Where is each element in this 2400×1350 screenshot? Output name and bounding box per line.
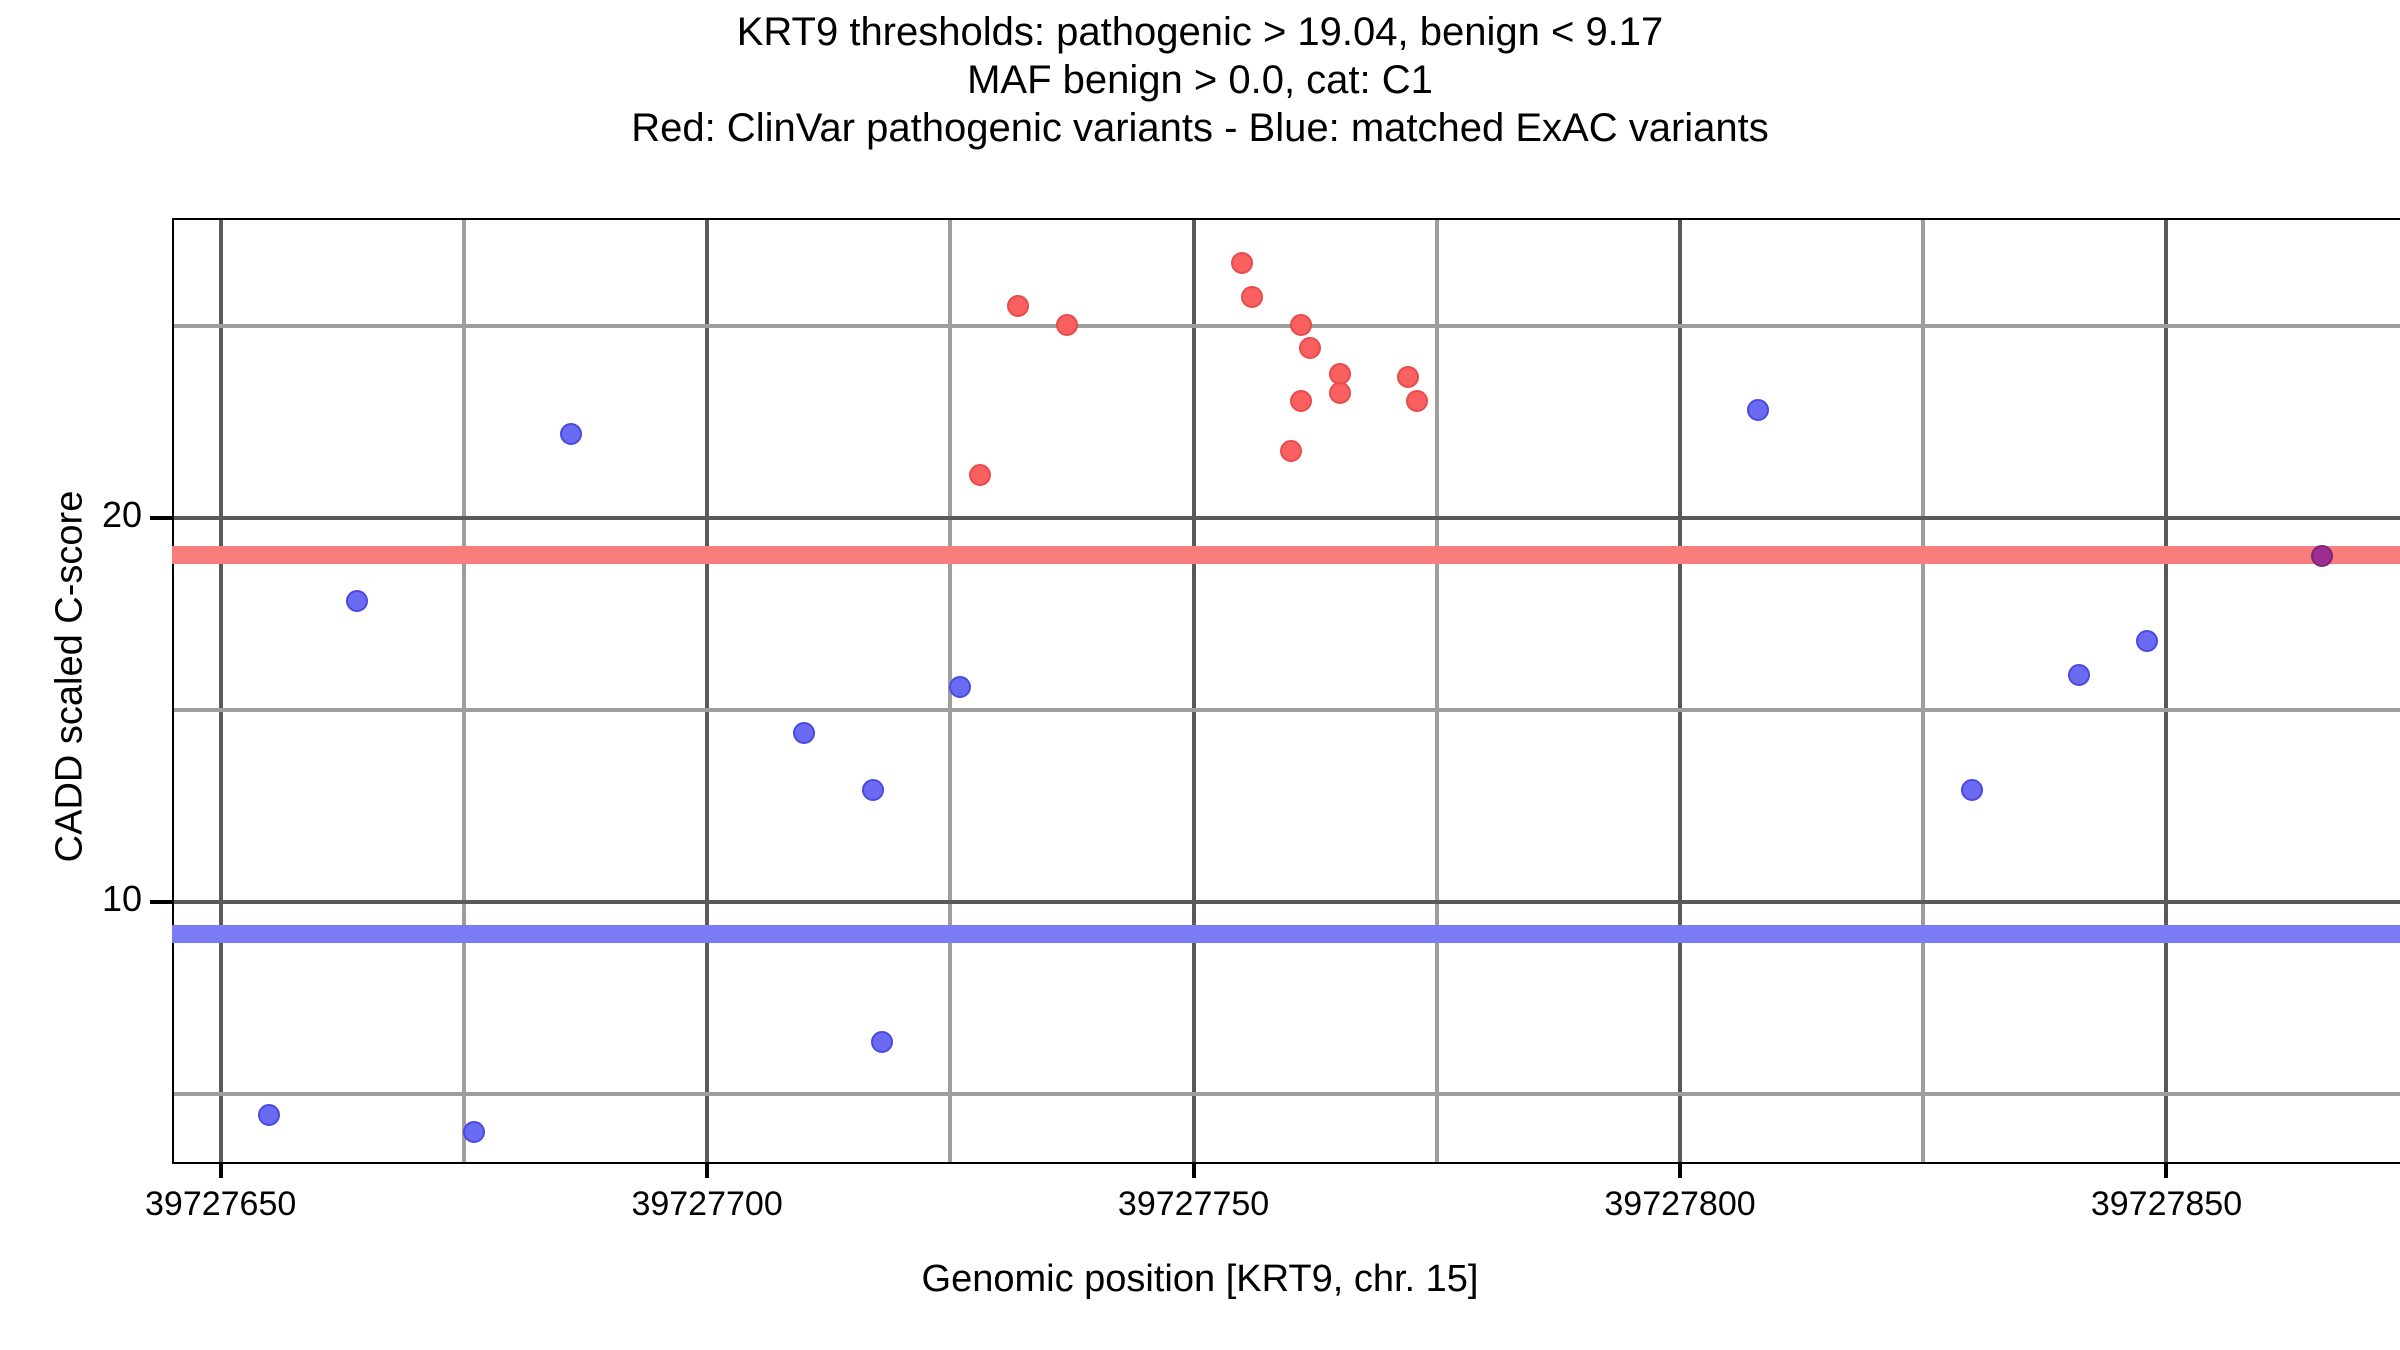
data-point-benign[interactable]	[2068, 664, 2090, 686]
data-point-benign[interactable]	[862, 779, 884, 801]
x-axis-tick-label: 39727850	[2006, 1185, 2326, 1224]
data-point-benign[interactable]	[1747, 399, 1769, 421]
data-point-benign[interactable]	[1961, 779, 1983, 801]
x-axis-label: Genomic position [KRT9, chr. 15]	[0, 1258, 2400, 1301]
data-point-benign[interactable]	[346, 590, 368, 612]
x-axis-tick-label: 39727800	[1520, 1185, 1840, 1224]
data-point-benign[interactable]	[560, 423, 582, 445]
data-point-pathogenic[interactable]	[1290, 390, 1312, 412]
data-point-benign[interactable]	[463, 1121, 485, 1143]
data-point-pathogenic[interactable]	[1290, 314, 1312, 336]
data-point-benign[interactable]	[258, 1104, 280, 1126]
axis-top-spine	[172, 218, 2400, 220]
benign-threshold-band	[172, 925, 2400, 943]
data-point-pathogenic[interactable]	[1280, 440, 1302, 462]
data-point-overlap[interactable]	[2311, 545, 2333, 567]
data-point-benign[interactable]	[2136, 630, 2158, 652]
pathogenic-threshold-band	[172, 546, 2400, 564]
y-axis-tick	[150, 516, 172, 520]
data-point-pathogenic[interactable]	[1329, 382, 1351, 404]
x-axis-tick-label: 39727750	[1034, 1185, 1354, 1224]
data-point-pathogenic[interactable]	[1231, 252, 1253, 274]
data-point-pathogenic[interactable]	[1241, 286, 1263, 308]
x-axis-tick	[219, 1164, 223, 1178]
x-axis-tick	[1678, 1164, 1682, 1178]
gridline-horizontal	[172, 516, 2400, 520]
data-point-benign[interactable]	[949, 676, 971, 698]
x-axis-tick	[705, 1164, 709, 1178]
chart-title: KRT9 thresholds: pathogenic > 19.04, ben…	[0, 8, 2400, 152]
gridline-vertical	[705, 218, 709, 1163]
gridline-vertical	[1678, 218, 1682, 1163]
data-point-benign[interactable]	[871, 1031, 893, 1053]
x-axis-tick	[2164, 1164, 2168, 1178]
data-point-pathogenic[interactable]	[969, 464, 991, 486]
title-line-2: MAF benign > 0.0, cat: C1	[0, 56, 2400, 104]
gridline-horizontal	[172, 900, 2400, 904]
data-point-pathogenic[interactable]	[1406, 390, 1428, 412]
gridline-vertical	[219, 218, 223, 1163]
gridline-vertical	[1435, 218, 1439, 1163]
gridline-horizontal	[172, 324, 2400, 328]
y-axis-label: CADD scaled C-score	[49, 177, 92, 1177]
axis-bottom-spine	[172, 1162, 2400, 1164]
data-point-benign[interactable]	[793, 722, 815, 744]
x-axis-tick-label: 39727650	[61, 1185, 381, 1224]
gridline-vertical	[1192, 218, 1196, 1163]
data-point-pathogenic[interactable]	[1007, 295, 1029, 317]
title-line-3: Red: ClinVar pathogenic variants - Blue:…	[0, 104, 2400, 152]
data-point-pathogenic[interactable]	[1299, 337, 1321, 359]
x-axis-tick-label: 39727700	[547, 1185, 867, 1224]
gridline-horizontal	[172, 708, 2400, 712]
chart-canvas: KRT9 thresholds: pathogenic > 19.04, ben…	[0, 0, 2400, 1350]
axis-left-spine	[172, 218, 174, 1163]
title-line-1: KRT9 thresholds: pathogenic > 19.04, ben…	[0, 8, 2400, 56]
gridline-vertical	[1921, 218, 1925, 1163]
data-point-pathogenic[interactable]	[1397, 366, 1419, 388]
x-axis-tick	[1192, 1164, 1196, 1178]
y-axis-tick	[150, 900, 172, 904]
gridline-vertical	[2164, 218, 2168, 1163]
gridline-horizontal	[172, 1092, 2400, 1096]
gridline-vertical	[462, 218, 466, 1163]
data-point-pathogenic[interactable]	[1056, 314, 1078, 336]
